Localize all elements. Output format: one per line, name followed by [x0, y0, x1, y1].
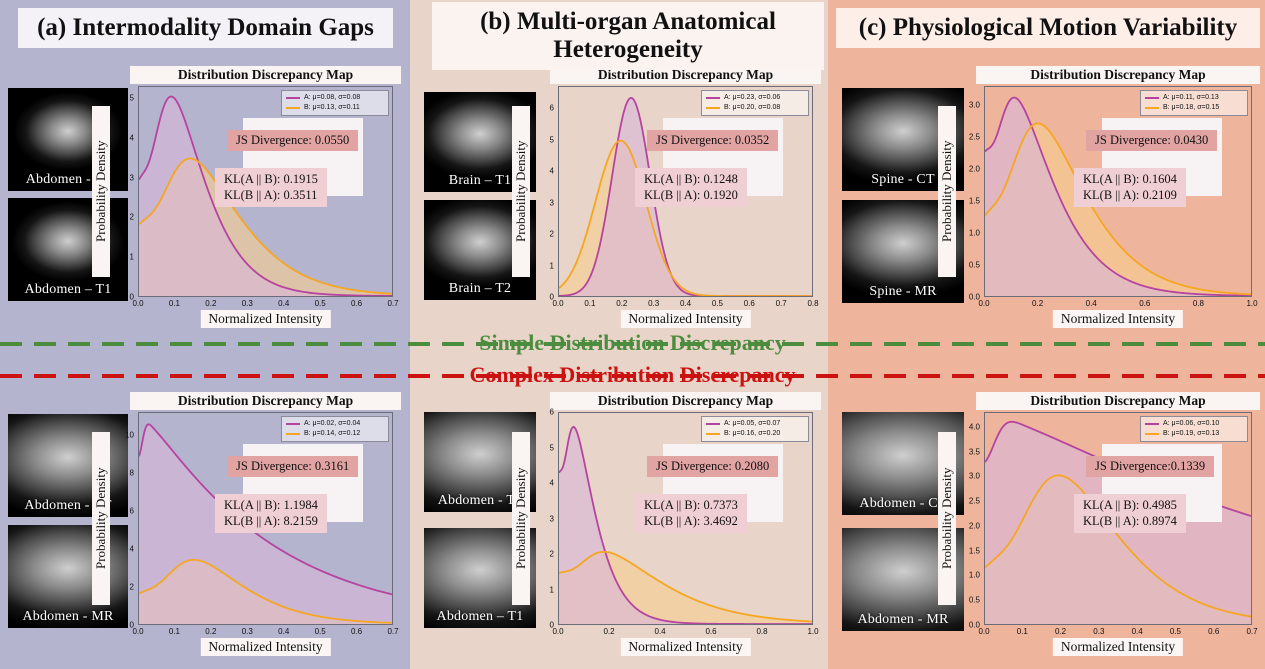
- x-tick-label: 0.1: [169, 299, 180, 308]
- y-tick-label: 3: [550, 514, 554, 523]
- legend-entry: B: μ=0.14, σ=0.12: [286, 429, 384, 439]
- y-axis-label: Probability Density: [938, 106, 956, 277]
- y-tick-label: 3.5: [969, 447, 980, 456]
- legend-entry: A: μ=0.08, σ=0.08: [286, 93, 384, 103]
- panel-c-bottom: Abdomen - CTAbdomen - MRDistribution Dis…: [828, 390, 1265, 669]
- y-tick-label: 6: [130, 506, 134, 515]
- x-tick-label: 0.7: [387, 299, 398, 308]
- js-divergence-badge: JS Divergence: 0.0352: [647, 130, 778, 151]
- legend-color-swatch: [706, 433, 720, 435]
- kl-ba-value: KL(B || A): 0.3511: [224, 187, 318, 203]
- y-tick-label: 0.5: [969, 261, 980, 270]
- y-tick-label: 1.5: [969, 546, 980, 555]
- legend-label: A: μ=0.06, σ=0.10: [1163, 419, 1219, 429]
- y-tick-label: 8: [130, 468, 134, 477]
- y-tick-label: 2: [550, 230, 554, 239]
- medical-image-thumbnail: Abdomen - MR: [8, 525, 128, 628]
- x-tick-label: 0.4: [278, 299, 289, 308]
- column-a-title: (a) Intermodality Domain Gaps: [18, 8, 393, 48]
- plot-title: Distribution Discrepancy Map: [130, 66, 401, 84]
- legend-color-swatch: [286, 97, 300, 99]
- x-tick-label: 1.0: [1246, 299, 1257, 308]
- legend-color-swatch: [1145, 97, 1159, 99]
- legend-color-swatch: [1145, 107, 1159, 109]
- y-tick-label: 3.0: [969, 472, 980, 481]
- y-axis-label: Probability Density: [92, 432, 110, 605]
- x-tick-label: 0.3: [648, 299, 659, 308]
- y-tick-label: 2: [130, 582, 134, 591]
- thumbnail-caption: Abdomen - MR: [8, 609, 128, 625]
- x-tick-label: 0.2: [1032, 299, 1043, 308]
- legend-label: A: μ=0.11, σ=0.13: [1163, 93, 1219, 103]
- x-tick-label: 0.4: [278, 627, 289, 636]
- x-tick-label: 0.5: [712, 299, 723, 308]
- y-tick-label: 0: [550, 621, 554, 630]
- simple-discrepancy-label: Simple Distribution Discrepancy: [479, 330, 785, 356]
- kl-divergence-box: KL(A || B): 1.1984KL(B || A): 8.2159: [215, 494, 327, 533]
- x-tick-label: 0.4: [1132, 627, 1143, 636]
- legend-entry: B: μ=0.13, σ=0.11: [286, 103, 384, 113]
- y-tick-label: 1.0: [969, 571, 980, 580]
- x-axis-label: Normalized Intensity: [1053, 310, 1183, 328]
- x-tick-label: 0.0: [552, 299, 563, 308]
- kl-ba-value: KL(B || A): 0.2109: [1083, 187, 1177, 203]
- y-tick-label: 4: [550, 167, 554, 176]
- x-tick-label: 0.8: [807, 299, 818, 308]
- y-axis-ticks: 0123456: [532, 86, 554, 297]
- thumbnail-caption: Abdomen - CT: [8, 498, 128, 514]
- thumbnail-caption: Abdomen – T1: [8, 282, 128, 298]
- plot-title: Distribution Discrepancy Map: [976, 66, 1260, 84]
- x-tick-label: 0.2: [1055, 627, 1066, 636]
- x-tick-label: 0.7: [776, 299, 787, 308]
- y-tick-label: 2: [130, 213, 134, 222]
- kl-divergence-box: KL(A || B): 0.4985KL(B || A): 0.8974: [1074, 494, 1186, 533]
- legend-color-swatch: [286, 423, 300, 425]
- y-tick-label: 5: [550, 443, 554, 452]
- x-tick-label: 0.3: [242, 627, 253, 636]
- x-axis-label: Normalized Intensity: [620, 310, 750, 328]
- y-axis-ticks: 012345: [112, 86, 134, 297]
- plot-legend: A: μ=0.11, σ=0.13B: μ=0.18, σ=0.15: [1140, 90, 1248, 116]
- y-axis-label: Probability Density: [512, 106, 530, 277]
- kl-divergence-box: KL(A || B): 0.1604KL(B || A): 0.2109: [1074, 168, 1186, 207]
- legend-color-swatch: [1145, 423, 1159, 425]
- plot-legend: A: μ=0.02, σ=0.04B: μ=0.14, σ=0.12: [281, 416, 389, 442]
- y-axis-label: Probability Density: [938, 432, 956, 605]
- plot-legend: A: μ=0.08, σ=0.08B: μ=0.13, σ=0.11: [281, 90, 389, 116]
- y-tick-label: 1.0: [969, 229, 980, 238]
- y-tick-label: 6: [550, 104, 554, 113]
- y-tick-label: 2.5: [969, 133, 980, 142]
- kl-ab-value: KL(A || B): 0.1915: [224, 171, 318, 187]
- legend-label: A: μ=0.23, σ=0.06: [724, 93, 780, 103]
- y-tick-label: 4.0: [969, 422, 980, 431]
- js-divergence-badge: JS Divergence: 0.0430: [1086, 130, 1217, 151]
- x-tick-label: 0.7: [1246, 627, 1257, 636]
- x-axis-ticks: 0.00.20.40.60.81.0: [984, 299, 1252, 311]
- thumbnail-caption: Abdomen – T1: [424, 609, 536, 625]
- legend-color-swatch: [706, 97, 720, 99]
- x-tick-label: 0.7: [387, 627, 398, 636]
- legend-entry: B: μ=0.18, σ=0.15: [1145, 103, 1243, 113]
- legend-label: B: μ=0.13, σ=0.11: [304, 103, 360, 113]
- x-tick-label: 1.0: [807, 627, 818, 636]
- x-tick-label: 0.2: [205, 299, 216, 308]
- x-tick-label: 0.5: [1170, 627, 1181, 636]
- legend-entry: A: μ=0.05, σ=0.07: [706, 419, 804, 429]
- legend-label: A: μ=0.02, σ=0.04: [304, 419, 360, 429]
- y-tick-label: 0.0: [969, 621, 980, 630]
- kl-divergence-box: KL(A || B): 0.7373KL(B || A): 3.4692: [635, 494, 747, 533]
- y-tick-label: 2.0: [969, 521, 980, 530]
- y-tick-label: 1: [550, 585, 554, 594]
- y-axis-ticks: 0.00.51.01.52.02.53.03.54.0: [958, 412, 980, 625]
- x-axis-ticks: 0.00.10.20.30.40.50.60.7: [138, 627, 393, 639]
- y-tick-label: 1.5: [969, 197, 980, 206]
- legend-label: B: μ=0.19, σ=0.13: [1163, 429, 1219, 439]
- x-tick-label: 0.4: [680, 299, 691, 308]
- kl-ba-value: KL(B || A): 0.8974: [1083, 513, 1177, 529]
- legend-entry: B: μ=0.20, σ=0.08: [706, 103, 804, 113]
- kl-ab-value: KL(A || B): 1.1984: [224, 497, 318, 513]
- plot-title: Distribution Discrepancy Map: [550, 392, 821, 410]
- column-b-title: (b) Multi-organ Anatomical Heterogeneity: [432, 2, 824, 70]
- x-tick-label: 0.1: [584, 299, 595, 308]
- thumbnail-caption: Abdomen - T2: [8, 172, 128, 188]
- y-tick-label: 6: [550, 408, 554, 417]
- complex-discrepancy-label: Complex Distribution Discrepancy: [470, 362, 796, 388]
- y-tick-label: 3: [130, 173, 134, 182]
- legend-color-swatch: [1145, 433, 1159, 435]
- thumbnail-caption: Brain – T2: [424, 281, 536, 297]
- legend-entry: B: μ=0.19, σ=0.13: [1145, 429, 1243, 439]
- x-tick-label: 0.4: [654, 627, 665, 636]
- x-tick-label: 0.1: [1017, 627, 1028, 636]
- y-axis-label: Probability Density: [512, 432, 530, 605]
- x-tick-label: 0.6: [351, 627, 362, 636]
- kl-ba-value: KL(B || A): 0.1920: [644, 187, 738, 203]
- plot-legend: A: μ=0.23, σ=0.06B: μ=0.20, σ=0.08: [701, 90, 809, 116]
- plot-legend: A: μ=0.06, σ=0.10B: μ=0.19, σ=0.13: [1140, 416, 1248, 442]
- legend-label: B: μ=0.16, σ=0.20: [724, 429, 780, 439]
- y-tick-label: 2.0: [969, 165, 980, 174]
- figure-root: (a) Intermodality Domain Gaps (b) Multi-…: [0, 0, 1265, 669]
- x-tick-label: 0.1: [169, 627, 180, 636]
- panel-a-bottom: Abdomen - CTAbdomen - MRDistribution Dis…: [0, 390, 410, 669]
- legend-label: B: μ=0.14, σ=0.12: [304, 429, 360, 439]
- legend-entry: A: μ=0.06, σ=0.10: [1145, 419, 1243, 429]
- y-tick-label: 1: [550, 261, 554, 270]
- x-tick-label: 0.0: [132, 299, 143, 308]
- thumbnail-caption: Spine - MR: [842, 284, 964, 300]
- legend-color-swatch: [706, 423, 720, 425]
- legend-entry: A: μ=0.11, σ=0.13: [1145, 93, 1243, 103]
- y-tick-label: 0.5: [969, 596, 980, 605]
- x-tick-label: 0.6: [744, 299, 755, 308]
- x-tick-label: 0.3: [1093, 627, 1104, 636]
- x-axis-label: Normalized Intensity: [200, 310, 330, 328]
- y-tick-label: 2.5: [969, 497, 980, 506]
- plot-legend: A: μ=0.05, σ=0.07B: μ=0.16, σ=0.20: [701, 416, 809, 442]
- y-axis-ticks: 0.00.51.01.52.02.53.0: [958, 86, 980, 297]
- x-axis-ticks: 0.00.10.20.30.40.50.60.7: [138, 299, 393, 311]
- legend-color-swatch: [286, 107, 300, 109]
- y-tick-label: 4: [130, 544, 134, 553]
- legend-label: A: μ=0.05, σ=0.07: [724, 419, 780, 429]
- x-axis-ticks: 0.00.20.40.60.81.0: [558, 627, 813, 639]
- js-divergence-badge: JS Divergence:0.1339: [1086, 456, 1214, 477]
- legend-entry: A: μ=0.02, σ=0.04: [286, 419, 384, 429]
- legend-entry: A: μ=0.23, σ=0.06: [706, 93, 804, 103]
- y-tick-label: 2: [550, 550, 554, 559]
- kl-ab-value: KL(A || B): 0.7373: [644, 497, 738, 513]
- js-divergence-badge: JS Divergence: 0.2080: [647, 456, 778, 477]
- x-tick-label: 0.8: [756, 627, 767, 636]
- x-axis-label: Normalized Intensity: [620, 638, 750, 656]
- y-axis-ticks: 0246810: [112, 412, 134, 625]
- y-tick-label: 3: [550, 198, 554, 207]
- legend-label: B: μ=0.18, σ=0.15: [1163, 103, 1219, 113]
- y-tick-label: 5: [130, 93, 134, 102]
- y-tick-label: 4: [550, 479, 554, 488]
- x-tick-label: 0.2: [603, 627, 614, 636]
- y-tick-label: 1: [130, 253, 134, 262]
- x-tick-label: 0.2: [205, 627, 216, 636]
- x-tick-label: 0.5: [315, 627, 326, 636]
- y-tick-label: 0: [130, 293, 134, 302]
- x-tick-label: 0.0: [552, 627, 563, 636]
- x-tick-label: 0.6: [1139, 299, 1150, 308]
- x-tick-label: 0.5: [315, 299, 326, 308]
- y-tick-label: 3.0: [969, 101, 980, 110]
- x-tick-label: 0.3: [242, 299, 253, 308]
- x-axis-ticks: 0.00.10.20.30.40.50.60.7: [984, 627, 1252, 639]
- legend-entry: B: μ=0.16, σ=0.20: [706, 429, 804, 439]
- plot-title: Distribution Discrepancy Map: [130, 392, 401, 410]
- x-axis-ticks: 0.00.10.20.30.40.50.60.70.8: [558, 299, 813, 311]
- thumbnail-caption: Abdomen - MR: [842, 612, 964, 628]
- x-tick-label: 0.0: [978, 299, 989, 308]
- y-tick-label: 10: [125, 430, 134, 439]
- kl-ab-value: KL(A || B): 0.1604: [1083, 171, 1177, 187]
- x-tick-label: 0.4: [1086, 299, 1097, 308]
- x-tick-label: 0.6: [351, 299, 362, 308]
- y-tick-label: 5: [550, 135, 554, 144]
- y-tick-label: 4: [130, 133, 134, 142]
- kl-ba-value: KL(B || A): 3.4692: [644, 513, 738, 529]
- y-axis-ticks: 0123456: [532, 412, 554, 625]
- kl-ab-value: KL(A || B): 0.1248: [644, 171, 738, 187]
- legend-color-swatch: [286, 433, 300, 435]
- x-tick-label: 0.8: [1193, 299, 1204, 308]
- x-axis-label: Normalized Intensity: [200, 638, 330, 656]
- column-c-title: (c) Physiological Motion Variability: [836, 8, 1260, 48]
- x-axis-label: Normalized Intensity: [1053, 638, 1183, 656]
- medical-image-thumbnail: Abdomen - CT: [8, 414, 128, 517]
- medical-image-thumbnail: Abdomen – T1: [8, 198, 128, 301]
- legend-label: B: μ=0.20, σ=0.08: [724, 103, 780, 113]
- js-divergence-badge: JS Divergence: 0.3161: [227, 456, 358, 477]
- legend-label: A: μ=0.08, σ=0.08: [304, 93, 360, 103]
- legend-color-swatch: [706, 107, 720, 109]
- y-axis-label: Probability Density: [92, 106, 110, 277]
- x-tick-label: 0.2: [616, 299, 627, 308]
- kl-divergence-box: KL(A || B): 0.1915KL(B || A): 0.3511: [215, 168, 327, 207]
- x-tick-label: 0.0: [978, 627, 989, 636]
- kl-divergence-box: KL(A || B): 0.1248KL(B || A): 0.1920: [635, 168, 747, 207]
- y-tick-label: 0.0: [969, 293, 980, 302]
- y-tick-label: 0: [550, 293, 554, 302]
- x-tick-label: 0.0: [132, 627, 143, 636]
- plot-title: Distribution Discrepancy Map: [976, 392, 1260, 410]
- x-tick-label: 0.6: [705, 627, 716, 636]
- x-tick-label: 0.6: [1208, 627, 1219, 636]
- y-tick-label: 0: [130, 621, 134, 630]
- medical-image-thumbnail: Abdomen - T2: [8, 88, 128, 191]
- panel-b-bottom: Abdomen - T2Abdomen – T1Distribution Dis…: [410, 390, 828, 669]
- kl-ab-value: KL(A || B): 0.4985: [1083, 497, 1177, 513]
- kl-ba-value: KL(B || A): 8.2159: [224, 513, 318, 529]
- js-divergence-badge: JS Divergence: 0.0550: [227, 130, 358, 151]
